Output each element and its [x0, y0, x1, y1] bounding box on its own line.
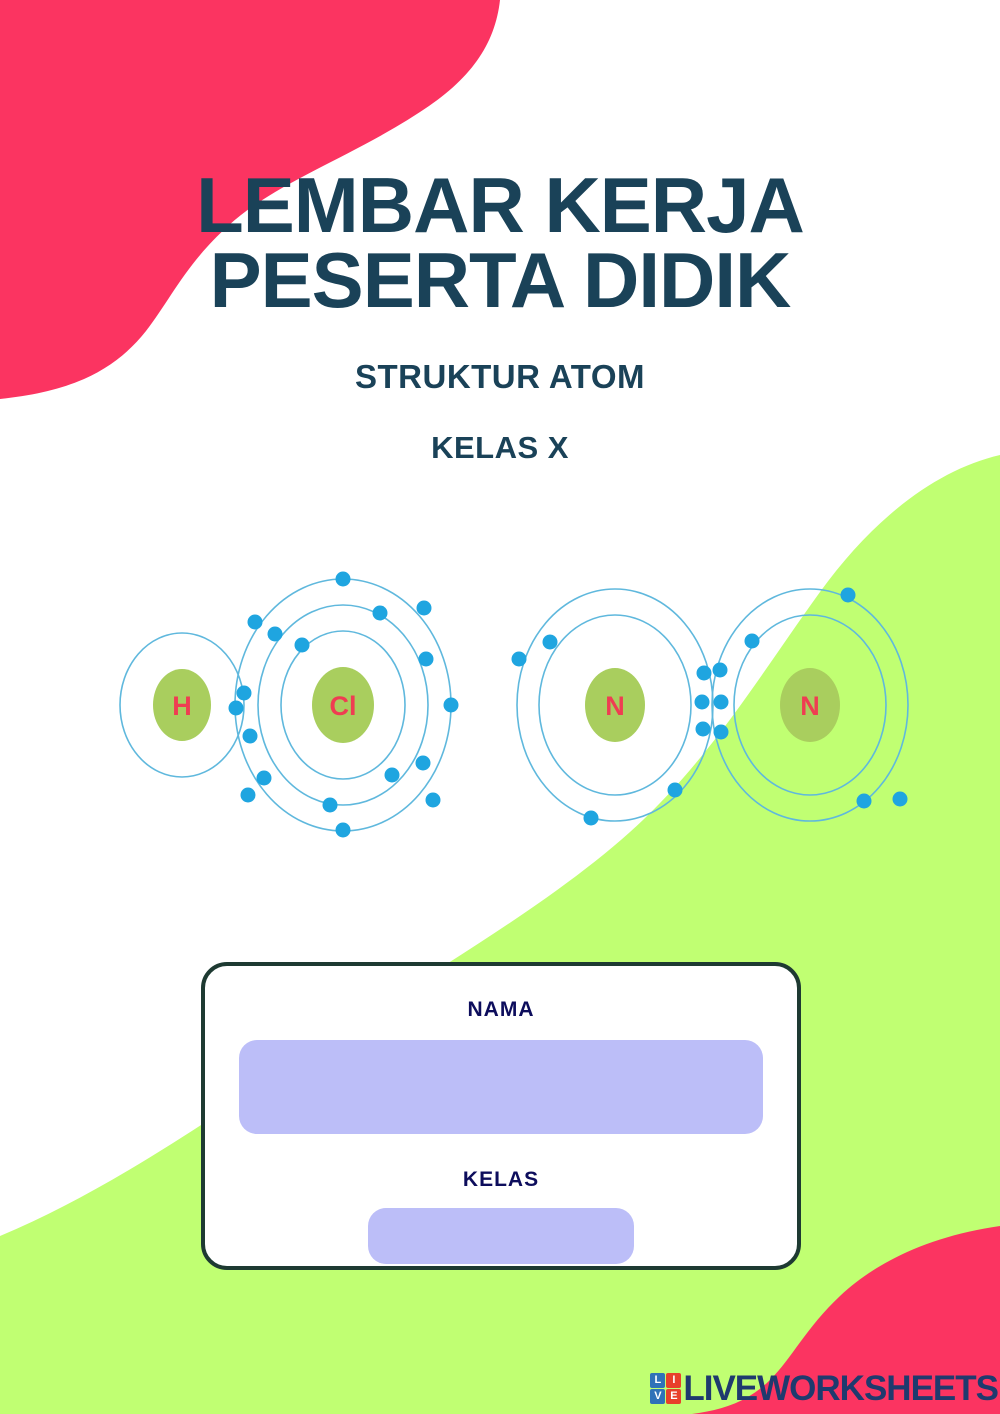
nucleus-label-nitrogen: N: [800, 691, 820, 721]
electron-dot: [241, 788, 256, 803]
electron-dot-bonding: [713, 663, 728, 678]
electron-dot: [257, 771, 272, 786]
nucleus-label-hydrogen: H: [172, 691, 192, 721]
nama-input[interactable]: [239, 1040, 763, 1134]
electron-dot: [373, 606, 388, 621]
student-info-card: NAMA KELAS: [201, 962, 801, 1270]
electron-dot: [841, 588, 856, 603]
electron-dot: [229, 701, 244, 716]
nucleus-label-nitrogen: N: [605, 691, 625, 721]
electron-dot: [417, 601, 432, 616]
electron-dot-bonding: [714, 725, 729, 740]
electron-dot: [323, 798, 338, 813]
electron-dot: [248, 615, 263, 630]
electron-dot: [512, 652, 527, 667]
nucleus-label-chlorine: Cl: [330, 691, 357, 721]
electron-dot-bonding: [695, 695, 710, 710]
electron-dot-bonding: [697, 666, 712, 681]
electron-dot: [336, 572, 351, 587]
page-title-line2: PESERTA DIDIK: [0, 243, 1000, 318]
atom-molecule-illustration: H Cl: [100, 560, 930, 850]
nama-label: NAMA: [468, 998, 535, 1022]
liveworksheets-wordmark: LIVEWORKSHEETS: [683, 1371, 998, 1406]
electron-dot: [268, 627, 283, 642]
electron-dot-bonding: [696, 722, 711, 737]
electron-dot: [237, 686, 252, 701]
tile-letter-l: L: [650, 1373, 665, 1388]
page-title-line1: LEMBAR KERJA: [0, 168, 1000, 243]
electron-dot: [295, 638, 310, 653]
electron-dot: [336, 823, 351, 838]
atom-chlorine: Cl: [229, 572, 459, 838]
electron-dot-bonding: [714, 695, 729, 710]
live-tiles-icon: L I V E: [650, 1373, 681, 1404]
electron-dot: [893, 792, 908, 807]
tile-letter-e: E: [666, 1389, 681, 1404]
tile-letter-v: V: [650, 1389, 665, 1404]
electron-dot: [385, 768, 400, 783]
electron-dot: [543, 635, 558, 650]
page-subtitle: STRUKTUR ATOM: [0, 318, 1000, 396]
tile-letter-i: I: [666, 1373, 681, 1388]
electron-dot: [426, 793, 441, 808]
kelas-label: KELAS: [463, 1168, 539, 1192]
page-grade-label: KELAS X: [0, 396, 1000, 466]
electron-dot: [857, 794, 872, 809]
electron-dot: [584, 811, 599, 826]
electron-dot-bonding: [243, 729, 258, 744]
page-title-block: LEMBAR KERJA PESERTA DIDIK STRUKTUR ATOM…: [0, 168, 1000, 466]
electron-dot: [416, 756, 431, 771]
electron-dot: [745, 634, 760, 649]
electron-dot: [668, 783, 683, 798]
electron-dot: [419, 652, 434, 667]
atom-nitrogen-left: N: [512, 589, 714, 826]
electron-dot: [444, 698, 459, 713]
atom-nitrogen-right: N: [712, 588, 908, 822]
worksheet-page: LEMBAR KERJA PESERTA DIDIK STRUKTUR ATOM…: [0, 0, 1000, 1414]
kelas-input[interactable]: [368, 1208, 634, 1264]
liveworksheets-logo[interactable]: L I V E LIVEWORKSHEETS: [650, 1371, 998, 1406]
